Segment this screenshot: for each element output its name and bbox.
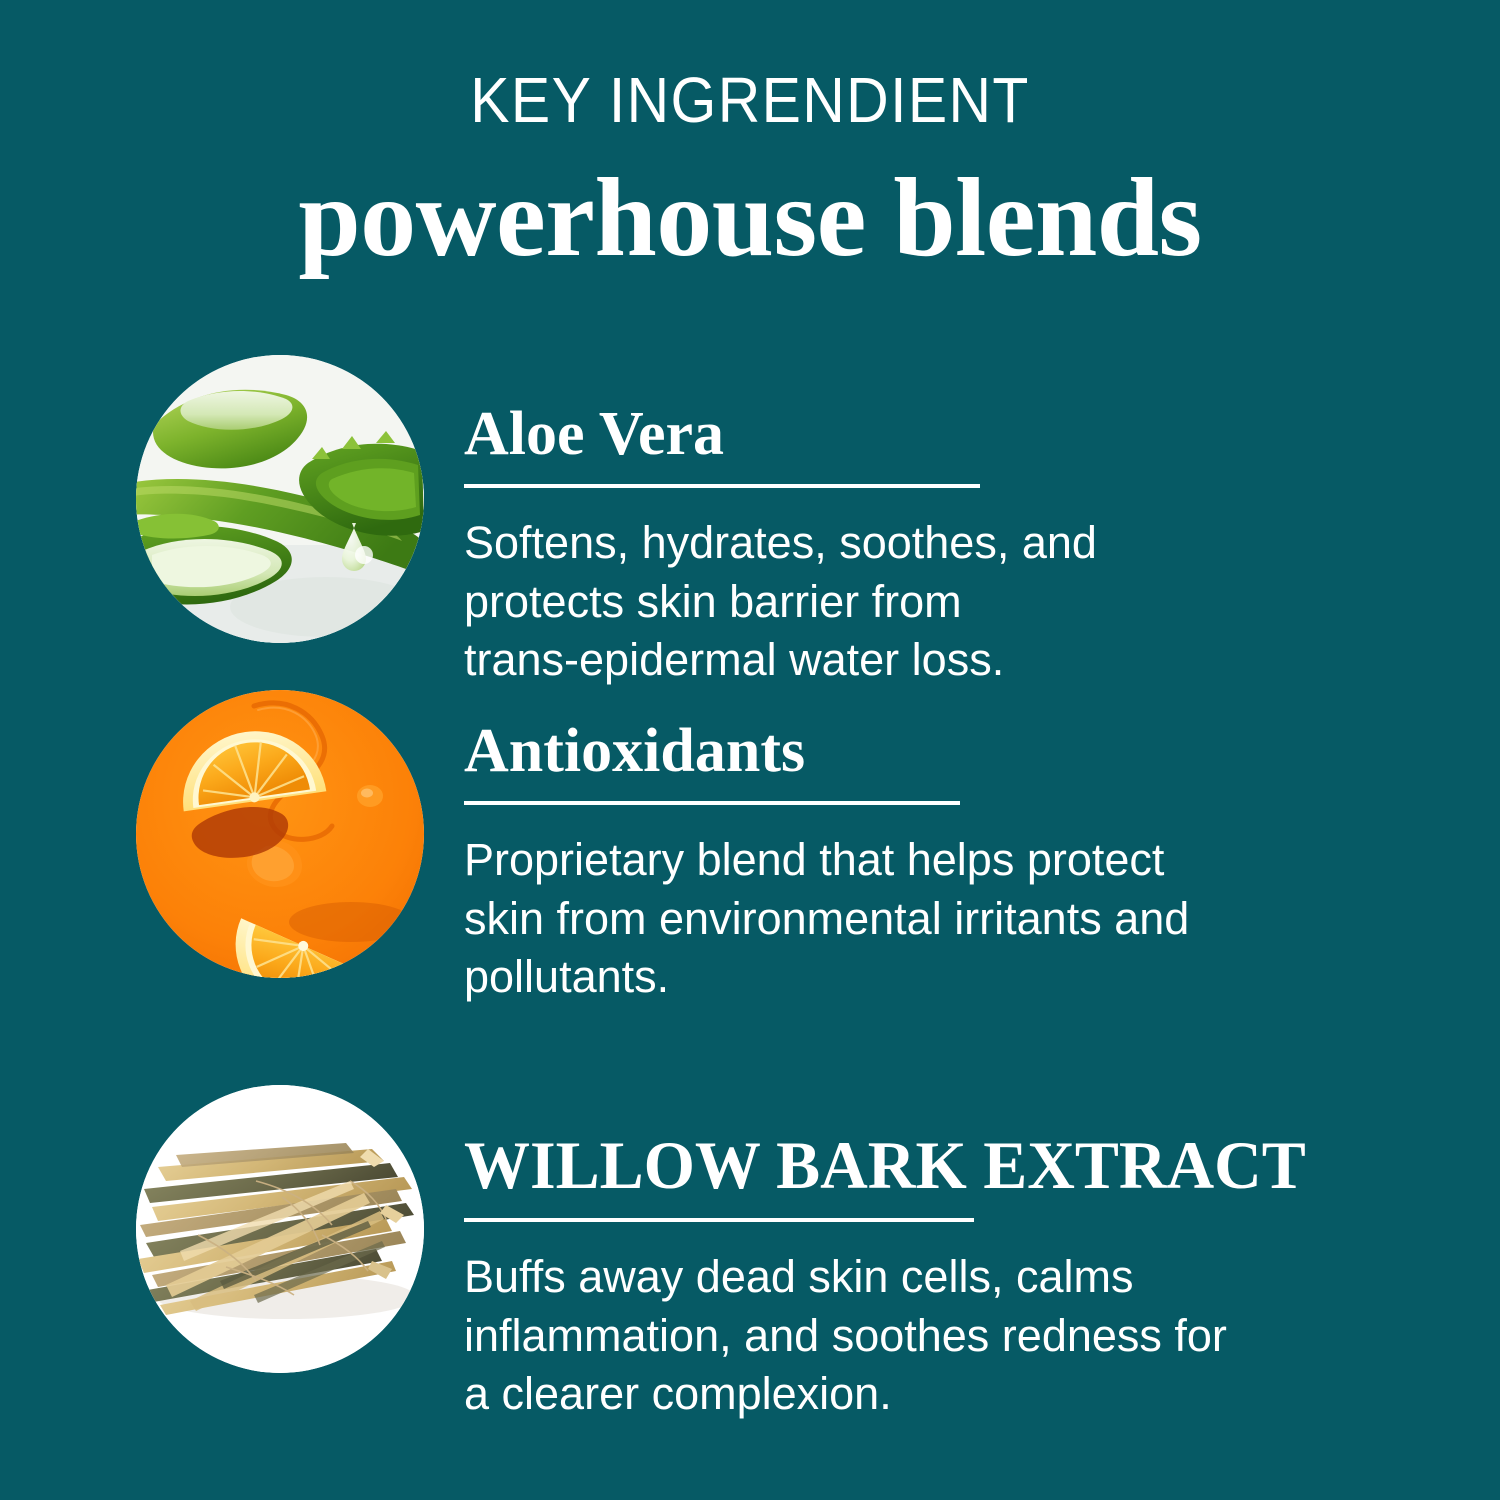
ingredient-copy: Aloe Vera Softens, hydrates, soothes, an… bbox=[424, 355, 1500, 690]
description-line: Softens, hydrates, soothes, and bbox=[464, 514, 1369, 573]
title-divider bbox=[464, 484, 980, 488]
willow-bark-photo bbox=[136, 1085, 424, 1373]
ingredient-row-aloe-vera: Aloe Vera Softens, hydrates, soothes, an… bbox=[0, 355, 1500, 690]
ingredient-title: Aloe Vera bbox=[464, 355, 1440, 466]
page-title: powerhouse blends bbox=[0, 158, 1500, 279]
ingredient-title: Antioxidants bbox=[464, 690, 1440, 783]
description-line: skin from environmental irritants and bbox=[464, 890, 1369, 949]
description-line: Buffs away dead skin cells, calms bbox=[464, 1248, 1399, 1307]
description-line: trans-epidermal water loss. bbox=[464, 631, 1369, 690]
description-line: a clearer complexion. bbox=[464, 1365, 1399, 1424]
aloe-vera-photo bbox=[136, 355, 424, 643]
description-line: Proprietary blend that helps protect bbox=[464, 831, 1369, 890]
thumbnail-wrapper bbox=[136, 690, 424, 978]
header: KEY INGRENDIENT powerhouse blends bbox=[0, 68, 1500, 279]
ingredient-copy: WILLOW BARK EXTRACT Buffs away dead skin… bbox=[424, 1085, 1500, 1424]
thumbnail-wrapper bbox=[136, 355, 424, 643]
ingredient-title: WILLOW BARK EXTRACT bbox=[464, 1085, 1411, 1200]
ingredient-description: Proprietary blend that helps protect ski… bbox=[464, 831, 1369, 1007]
description-line: pollutants. bbox=[464, 948, 1369, 1007]
description-line: inflammation, and soothes redness for bbox=[464, 1307, 1399, 1366]
title-divider bbox=[464, 1218, 974, 1222]
title-divider bbox=[464, 801, 960, 805]
ingredient-row-antioxidants: Antioxidants Proprietary blend that help… bbox=[0, 690, 1500, 1007]
ingredient-row-willow-bark: WILLOW BARK EXTRACT Buffs away dead skin… bbox=[0, 1085, 1500, 1424]
eyebrow-label: KEY INGRENDIENT bbox=[60, 68, 1440, 132]
ingredient-copy: Antioxidants Proprietary blend that help… bbox=[424, 690, 1500, 1007]
description-line: protects skin barrier from bbox=[464, 573, 1369, 632]
citrus-antioxidants-photo bbox=[136, 690, 424, 978]
ingredient-description: Softens, hydrates, soothes, and protects… bbox=[464, 514, 1369, 690]
thumbnail-wrapper bbox=[136, 1085, 424, 1373]
ingredient-infographic: KEY INGRENDIENT powerhouse blends bbox=[0, 0, 1500, 1500]
ingredient-description: Buffs away dead skin cells, calms inflam… bbox=[464, 1248, 1399, 1424]
